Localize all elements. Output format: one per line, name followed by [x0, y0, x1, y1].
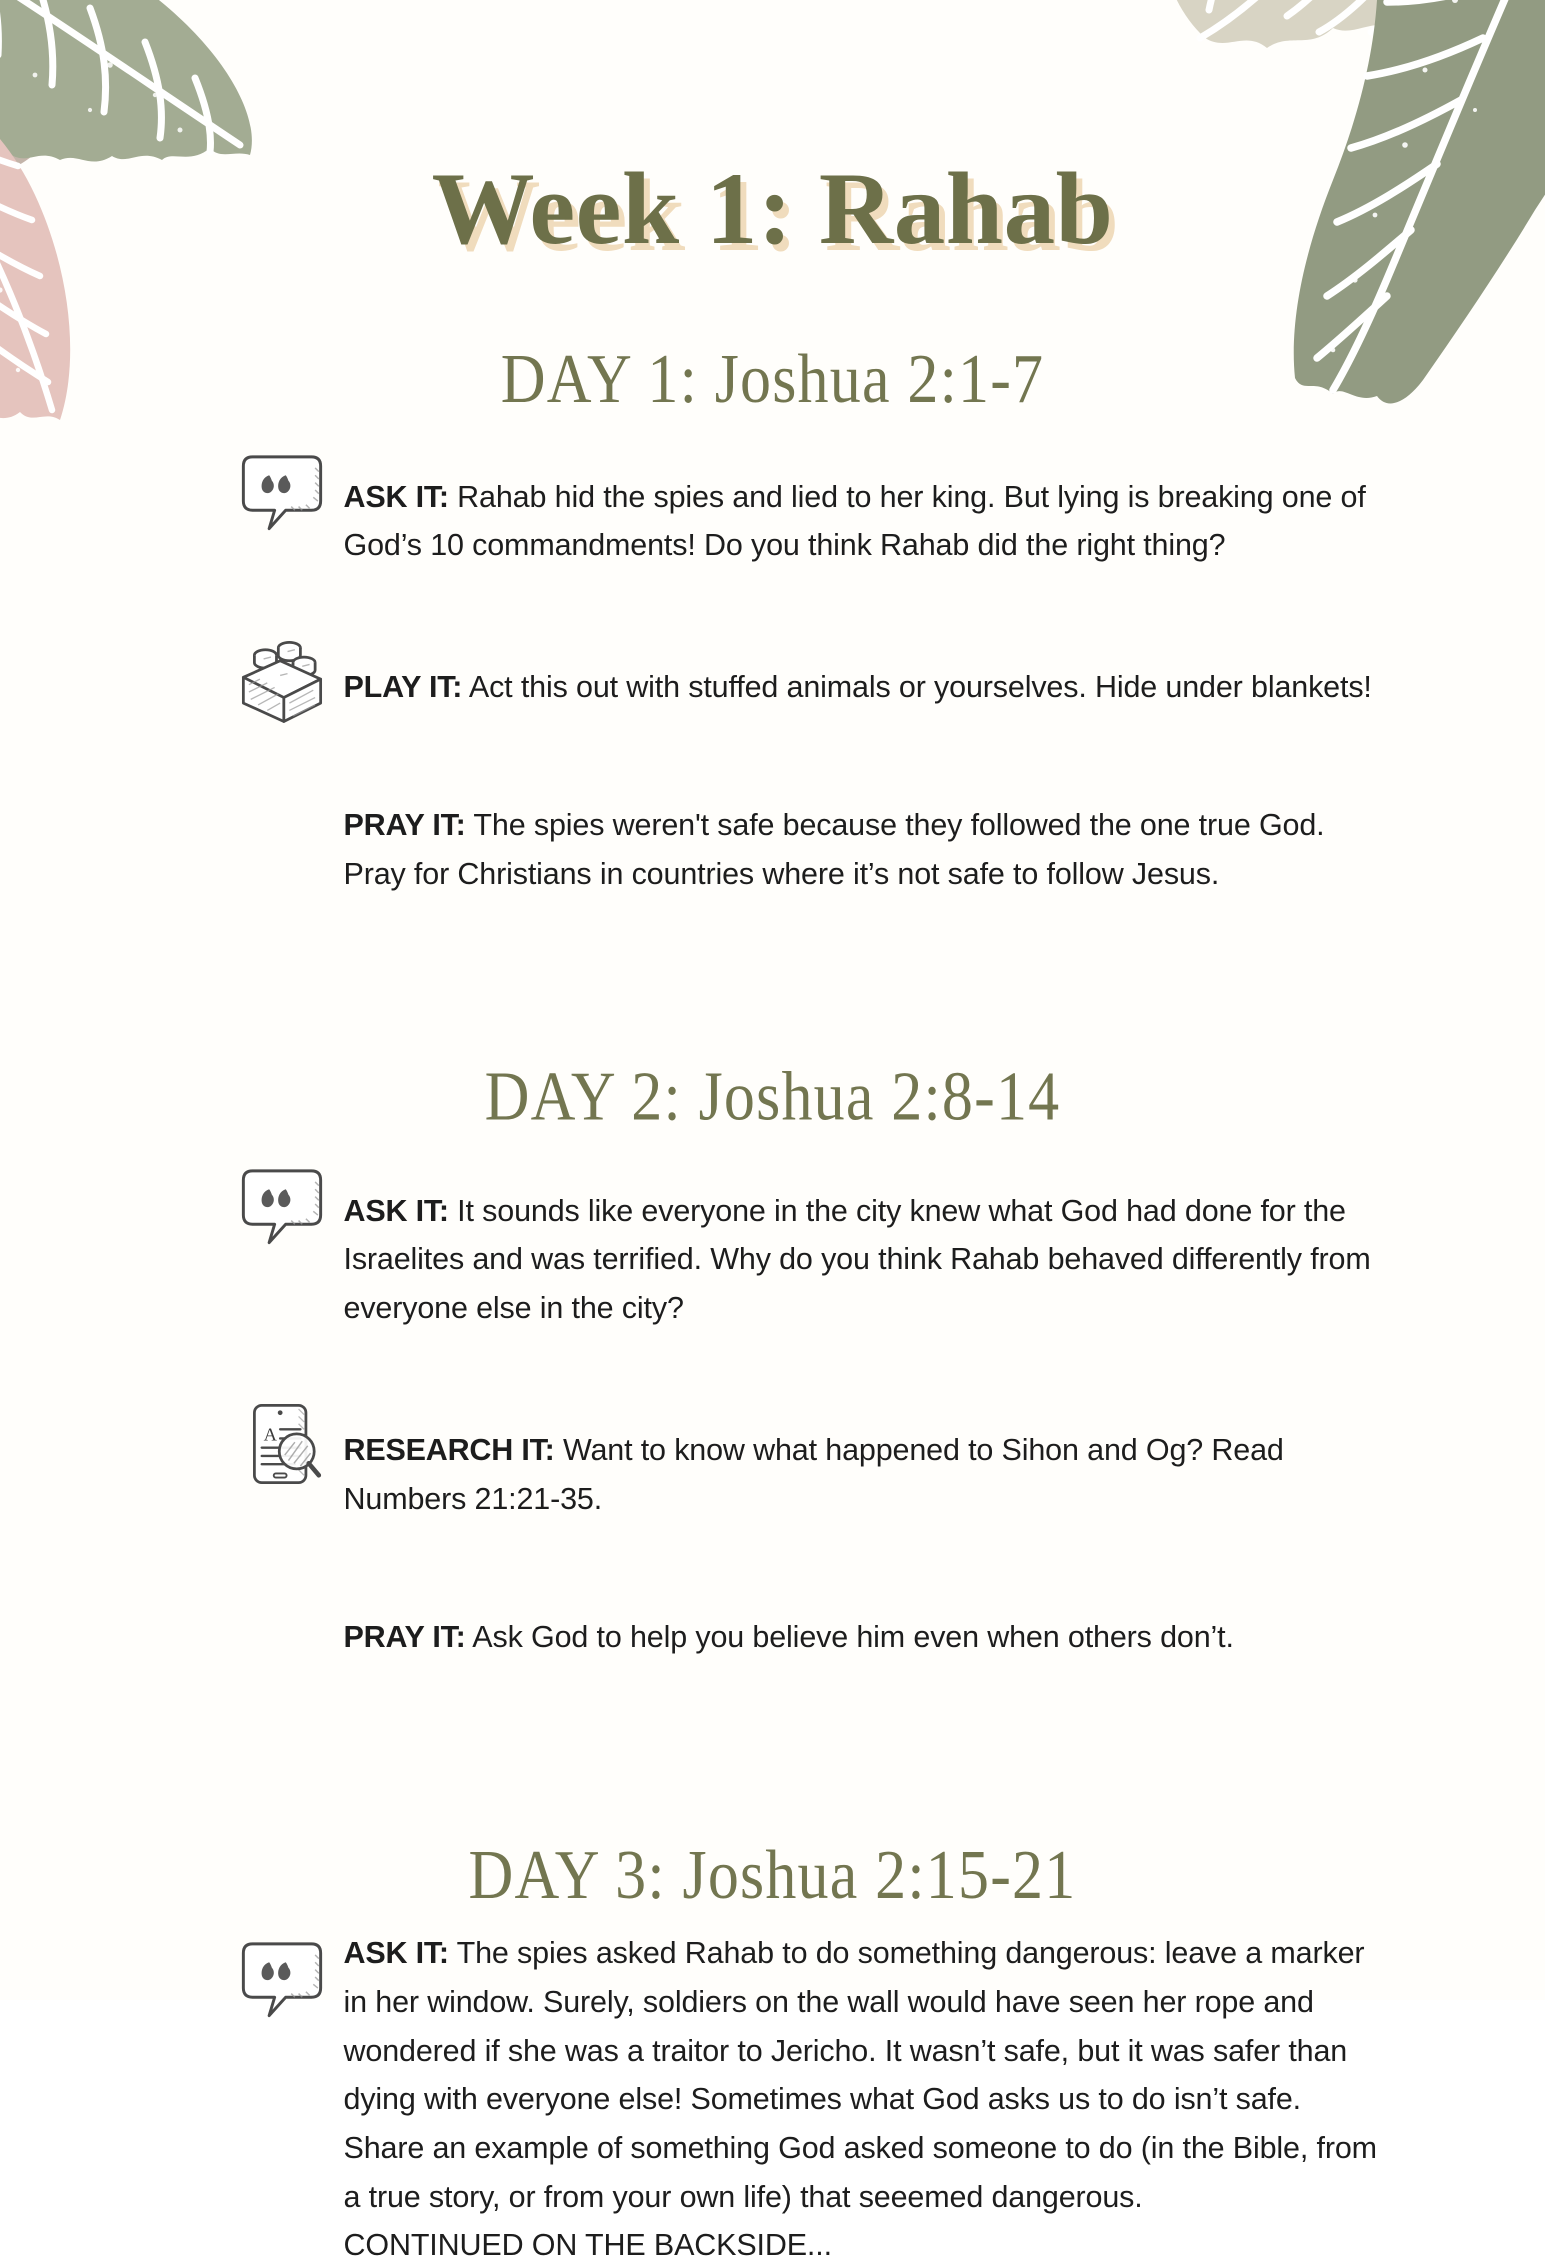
entry-body: PLAY IT: Act this out with stuffed anima… — [344, 661, 1388, 712]
entry-lead: PRAY IT: — [344, 808, 466, 842]
lego-brick-icon — [236, 635, 328, 727]
speech-bubble-quote-icon — [236, 444, 328, 536]
svg-text:A: A — [263, 1424, 277, 1444]
entry-body-text: It sounds like everyone in the city knew… — [344, 1194, 1371, 1326]
entry-body-text: The spies weren't safe because they foll… — [344, 808, 1325, 891]
worksheet-page: Week 1: Rahab DAY 1: Joshua 2:1-7 ASK IT… — [0, 0, 1545, 2000]
continued-note: CONTINUED ON THE BACKSIDE... — [344, 2222, 1388, 2268]
day-2-entries: ASK IT: It sounds like everyone in the c… — [158, 1154, 1388, 1692]
entry-research-it: A — [236, 1394, 1388, 1555]
entry-lead: PRAY IT: — [344, 1620, 466, 1654]
entry-body: PRAY IT: The spies weren't safe because … — [344, 799, 1388, 899]
entry-body-text: Act this out with stuffed animals or you… — [462, 670, 1372, 704]
entry-lead: ASK IT: — [344, 480, 449, 514]
day-1-heading: DAY 1: Joshua 2:1-7 — [0, 261, 1545, 417]
day-2-heading: DAY 2: Joshua 2:8-14 — [0, 929, 1545, 1134]
entry-pray-it: PRAY IT: Ask God to help you believe him… — [236, 1580, 1388, 1692]
day-1-entries: ASK IT: Rahab hid the spies and lied to … — [158, 440, 1388, 929]
entry-body-text: The spies asked Rahab to do something da… — [344, 1936, 1377, 2214]
entry-ask-it: ASK IT: The spies asked Rahab to do some… — [236, 1927, 1388, 2268]
entry-lead: ASK IT: — [344, 1936, 449, 1970]
entry-body-text: Ask God to help you believe him even whe… — [466, 1620, 1234, 1654]
page-title: Week 1: Rahab — [0, 0, 1545, 261]
entry-body: PRAY IT: Ask God to help you believe him… — [344, 1611, 1388, 1662]
day-3-entries: ASK IT: The spies asked Rahab to do some… — [158, 1927, 1388, 2268]
speech-bubble-quote-icon — [236, 1158, 328, 1250]
document-magnifier-icon: A — [236, 1398, 328, 1490]
entry-lead: ASK IT: — [344, 1194, 449, 1228]
entry-lead: RESEARCH IT: — [344, 1433, 555, 1467]
entry-pray-it: PRAY IT: The spies weren't safe because … — [236, 768, 1388, 929]
entry-play-it: PLAY IT: Act this out with stuffed anima… — [236, 631, 1388, 743]
entry-body: ASK IT: It sounds like everyone in the c… — [344, 1185, 1388, 1333]
entry-body-text: Rahab hid the spies and lied to her king… — [344, 480, 1366, 563]
entry-body: ASK IT: The spies asked Rahab to do some… — [344, 1927, 1388, 2222]
entry-ask-it: ASK IT: It sounds like everyone in the c… — [236, 1154, 1388, 1363]
entry-lead: PLAY IT: — [344, 670, 463, 704]
speech-bubble-quote-icon — [236, 1931, 328, 2023]
day-3-heading: DAY 3: Joshua 2:15-21 — [0, 1692, 1545, 1913]
entry-body: ASK IT: Rahab hid the spies and lied to … — [344, 471, 1388, 571]
entry-ask-it: ASK IT: Rahab hid the spies and lied to … — [236, 440, 1388, 601]
entry-body: RESEARCH IT: Want to know what happened … — [344, 1424, 1388, 1524]
